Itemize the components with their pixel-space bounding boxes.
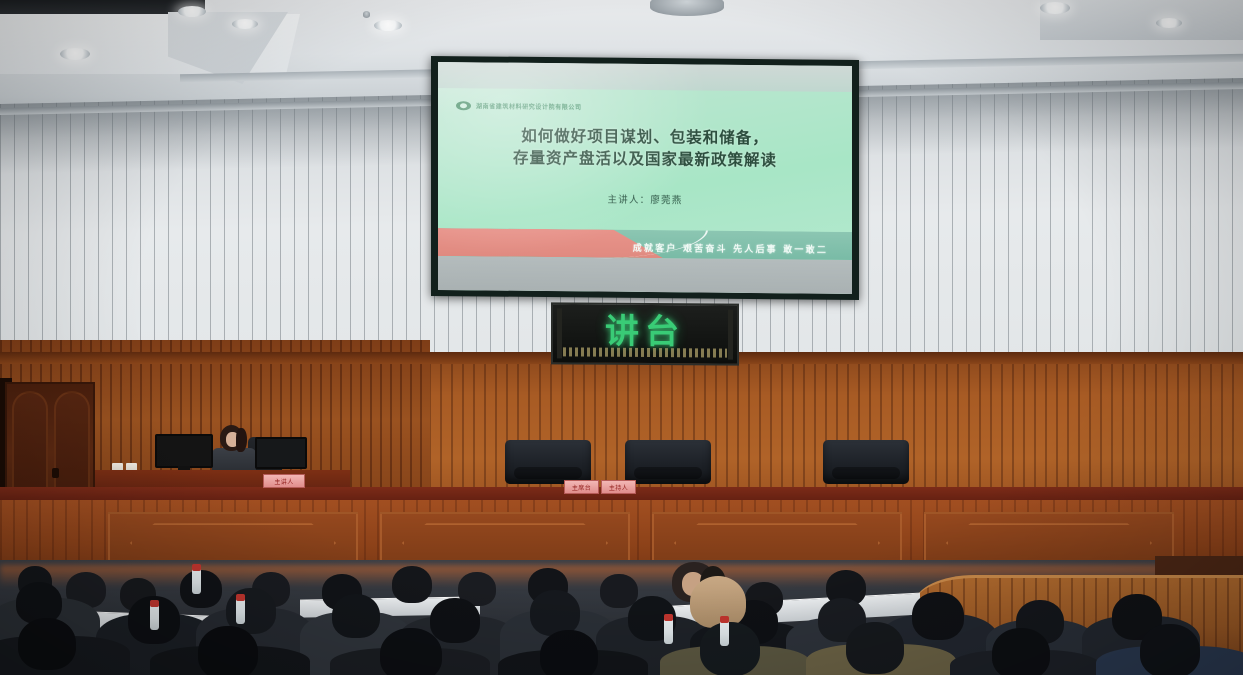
bottle-cap-icon	[720, 616, 729, 623]
audience-head	[912, 592, 964, 640]
downlight-icon	[178, 6, 206, 17]
downlight-icon	[1040, 2, 1070, 14]
bottle-cap-icon	[192, 564, 201, 571]
nameplate-text: 主讲人	[274, 477, 293, 486]
nameplate-text: 主持人	[609, 483, 628, 492]
audience-head	[1140, 624, 1200, 675]
led-ticker-row	[563, 347, 727, 357]
presentation-slide: 湖南省建筑材料研究设计院有限公司 如何做好项目谋划、包装和储备， 存量资产盘活以…	[438, 62, 852, 294]
nameplate-presenter: 主讲人	[263, 474, 305, 488]
bottle-cap-icon	[664, 614, 673, 621]
audience-head	[392, 566, 432, 603]
conference-hall-photo: 湖南省建筑材料研究设计院有限公司 如何做好项目谋划、包装和储备， 存量资产盘活以…	[0, 0, 1243, 675]
nameplate-center-right: 主持人	[601, 480, 636, 494]
nameplate-text: 主席台	[572, 483, 591, 492]
audience-head	[18, 618, 76, 670]
slide-footer-band: 成就客户 艰苦奋斗 先人后事 敢一敢二	[438, 228, 852, 294]
audience-head	[198, 626, 258, 675]
bottle-cap-icon	[236, 594, 245, 601]
podium-panel-diamond	[130, 523, 337, 562]
ceiling-right-panel	[1040, 0, 1243, 40]
stage-chair	[625, 440, 711, 484]
screen-surface: 湖南省建筑材料研究设计院有限公司 如何做好项目谋划、包装和储备， 存量资产盘活以…	[438, 62, 852, 294]
presenter-hair	[236, 428, 247, 452]
led-sign-text: 讲台	[553, 306, 737, 349]
slide-title-line-2: 存量资产盘活以及国家最新政策解读	[438, 146, 852, 172]
podium-panel-diamond	[674, 523, 881, 562]
audience-head-light-hair	[690, 576, 746, 628]
water-bottle	[720, 620, 729, 646]
nameplate-center-left: 主席台	[564, 480, 599, 494]
led-sign: 讲台	[551, 302, 739, 365]
desk-monitor-secondary	[255, 437, 307, 469]
sprinkler-icon	[363, 11, 370, 18]
slide-title: 如何做好项目谋划、包装和储备， 存量资产盘活以及国家最新政策解读	[438, 124, 852, 172]
podium-panel-diamond	[402, 523, 609, 562]
band-grey	[438, 256, 852, 294]
audience-head	[430, 598, 480, 643]
downlight-icon	[60, 48, 90, 60]
audience-head	[992, 628, 1050, 675]
audience-head	[846, 622, 904, 674]
downlight-icon	[1156, 18, 1182, 28]
water-bottle	[150, 604, 159, 630]
audience-head	[540, 630, 598, 675]
downlight-icon	[232, 19, 258, 29]
slide-logo-text: 湖南省建筑材料研究设计院有限公司	[476, 101, 582, 111]
bottle-cap-icon	[150, 600, 159, 607]
audience-head	[700, 622, 760, 675]
desk-monitor	[155, 434, 213, 468]
stage-chair	[505, 440, 591, 484]
slide-top-strip	[438, 62, 852, 92]
water-bottle	[236, 598, 245, 624]
door-knob-icon[interactable]	[52, 468, 59, 478]
downlight-icon	[374, 20, 402, 31]
podium-panel-diamond	[946, 523, 1153, 562]
stage-chair	[823, 440, 909, 484]
slide-slogan: 成就客户 艰苦奋斗 先人后事 敢一敢二	[633, 241, 828, 256]
audience-head	[180, 570, 222, 608]
projection-screen: 湖南省建筑材料研究设计院有限公司 如何做好项目谋划、包装和储备， 存量资产盘活以…	[431, 56, 859, 300]
water-bottle	[664, 618, 673, 644]
audience-head	[332, 594, 380, 638]
company-logo-icon	[456, 101, 471, 110]
slide-speaker: 主讲人：廖莞燕	[438, 190, 852, 208]
slide-logo: 湖南省建筑材料研究设计院有限公司	[456, 101, 582, 111]
water-bottle	[192, 568, 201, 594]
audience-head	[380, 628, 442, 675]
